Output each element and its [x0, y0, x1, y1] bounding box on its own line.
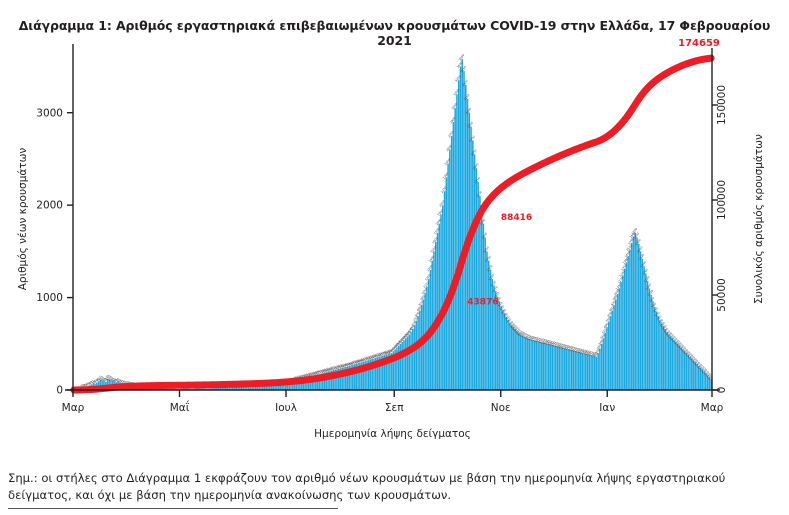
bar: [520, 335, 522, 390]
bar: [677, 344, 679, 390]
bar: [529, 339, 531, 390]
figure-note-text: Σημ.: οι στήλες στο Διάγραμμα 1 εκφράζου…: [8, 471, 725, 502]
x-tick-label: Ιουλ: [275, 402, 297, 414]
bar: [622, 275, 624, 390]
bar: [555, 346, 557, 390]
bar: [624, 269, 626, 390]
bar: [456, 94, 458, 390]
bar: [548, 344, 550, 390]
bar: [419, 311, 421, 390]
bar: [564, 348, 566, 390]
bar: [454, 108, 456, 390]
bar: [544, 343, 546, 390]
bar: [435, 242, 437, 390]
bar: [504, 313, 506, 390]
bar: [610, 316, 612, 390]
bar: [461, 59, 463, 390]
bar: [470, 127, 472, 390]
bar: [500, 306, 502, 390]
x-tick-label: Ιαν: [599, 402, 615, 414]
bar: [606, 327, 608, 390]
note-underline: [8, 508, 338, 509]
bar: [460, 66, 462, 390]
bar: [650, 295, 652, 390]
y-axis-right-label: Συνολικός αριθμός κρουσμάτων: [753, 134, 765, 304]
bar: [509, 323, 511, 390]
bar: [680, 347, 682, 390]
x-tick-label: Νοε: [491, 402, 511, 414]
x-axis: ΜαρΜαΐΙουλΣεπΝοεΙανΜαρ Ημερομηνία λήψης …: [62, 390, 724, 440]
bar: [580, 353, 582, 390]
bar: [612, 311, 614, 390]
bar: [643, 266, 645, 390]
y-axis-right: 050000100000150000 Συνολικός αριθμός κρο…: [712, 48, 765, 393]
bar: [578, 352, 580, 390]
bar: [647, 281, 649, 390]
bar: [604, 333, 606, 390]
bar: [532, 340, 534, 390]
bar: [666, 332, 668, 390]
bar: [587, 354, 589, 390]
chart-figure: 3128354552607168809511010396881201151059…: [0, 38, 789, 458]
bar: [525, 337, 527, 390]
bars-group: [73, 59, 712, 390]
bar: [613, 305, 615, 390]
bar: [615, 299, 617, 390]
y-axis-left: 0100020003000 Αριθμός νέων κρουσμάτων: [17, 44, 73, 397]
bar: [463, 71, 465, 390]
bar: [627, 256, 629, 390]
y-axis-left-label: Αριθμός νέων κρουσμάτων: [17, 148, 29, 291]
bar: [664, 329, 666, 390]
bar: [502, 310, 504, 390]
bar: [571, 350, 573, 390]
bar: [583, 353, 585, 390]
cumulative-annotation: 174659: [678, 38, 720, 49]
bar: [407, 336, 409, 390]
bar: [543, 343, 545, 390]
bar: [472, 140, 474, 390]
bar: [594, 356, 596, 390]
bar: [409, 335, 411, 390]
bar: [537, 341, 539, 390]
y2-tick-label: 150000: [716, 85, 728, 125]
bar: [521, 335, 523, 390]
bar: [499, 301, 501, 390]
y2-tick-label: 50000: [716, 278, 728, 311]
bar: [557, 347, 559, 390]
bar: [446, 177, 448, 390]
bar: [476, 168, 478, 390]
bar: [601, 344, 603, 390]
y2-tick-label: 100000: [716, 180, 728, 220]
bar: [569, 350, 571, 390]
bar: [527, 338, 529, 390]
bar: [633, 237, 635, 390]
bar: [629, 250, 631, 391]
bar: [592, 356, 594, 390]
bar: [453, 122, 455, 390]
bar: [410, 332, 412, 390]
bar: [447, 164, 449, 390]
bar: [546, 344, 548, 390]
bar: [534, 341, 536, 390]
bar: [518, 333, 520, 390]
bar: [400, 344, 402, 390]
bar: [560, 347, 562, 390]
bar: [414, 325, 416, 390]
bar: [599, 348, 601, 390]
bar: [417, 316, 419, 390]
cumulative-annotations-group: 1746598841643876: [467, 38, 720, 307]
bar: [620, 282, 622, 390]
bar: [603, 338, 605, 390]
bar: [661, 323, 663, 390]
bar-value-labels-group: 3128354552607168809511010396881201151059…: [79, 53, 713, 389]
x-axis-label: Ημερομηνία λήψης δείγματος: [314, 428, 471, 440]
bar: [412, 329, 414, 390]
x-tick-label: Μαρ: [701, 402, 724, 414]
bar: [596, 357, 598, 390]
bar: [553, 346, 555, 390]
bar: [634, 233, 636, 390]
bar: [442, 205, 444, 390]
cumulative-annotation: 43876: [467, 298, 498, 308]
bar: [590, 355, 592, 390]
bar: [401, 342, 403, 390]
bar: [684, 351, 686, 390]
bar: [530, 340, 532, 390]
bar: [439, 224, 441, 390]
bar: [573, 351, 575, 390]
bar: [686, 353, 688, 390]
bar: [539, 342, 541, 390]
bar: [458, 80, 460, 390]
y-tick-label: 3000: [36, 107, 63, 119]
bar: [451, 136, 453, 390]
y-tick-label: 0: [56, 385, 63, 397]
bar: [679, 346, 681, 390]
bar: [513, 327, 515, 390]
bar: [497, 297, 499, 390]
bar: [550, 345, 552, 390]
bar: [416, 321, 418, 390]
bar: [585, 354, 587, 390]
bar: [673, 340, 675, 390]
bar: [617, 294, 619, 390]
bar: [536, 341, 538, 390]
bar: [567, 349, 569, 390]
bar: [523, 336, 525, 390]
bar: [668, 335, 670, 390]
bar: [440, 214, 442, 390]
bar: [582, 353, 584, 390]
bar: [541, 342, 543, 390]
bar: [574, 351, 576, 390]
bar: [576, 352, 578, 390]
bar: [642, 259, 644, 390]
x-tick-label: Σεπ: [385, 402, 404, 414]
y-tick-label: 1000: [36, 292, 63, 304]
bar: [649, 288, 651, 390]
bar: [589, 355, 591, 390]
bar: [608, 322, 610, 390]
bar: [449, 150, 451, 390]
bar: [562, 348, 564, 390]
bar: [626, 262, 628, 390]
bar: [636, 237, 638, 390]
bar: [659, 320, 661, 390]
x-tick-label: Μαρ: [62, 402, 85, 414]
covid-cases-chart: 3128354552607168809511010396881201151059…: [0, 38, 789, 458]
cumulative-annotation: 88416: [501, 213, 532, 223]
bar: [405, 338, 407, 390]
bar: [421, 305, 423, 390]
bar: [551, 345, 553, 390]
bar: [672, 338, 674, 390]
y-tick-label: 2000: [36, 200, 63, 212]
x-tick-label: Μαΐ: [170, 400, 190, 414]
bar-value-label: 3580: [458, 53, 466, 61]
bar: [597, 353, 599, 390]
bar: [511, 325, 513, 390]
bar: [670, 336, 672, 390]
bar: [559, 347, 561, 390]
bar: [675, 342, 677, 390]
bar: [474, 154, 476, 390]
bar: [566, 349, 568, 390]
bar: [619, 288, 621, 390]
bar: [645, 274, 647, 390]
bar: [507, 320, 509, 390]
bar: [631, 243, 633, 390]
bar: [444, 191, 446, 390]
bar: [663, 326, 665, 390]
bar: [682, 349, 684, 390]
bar: [516, 331, 518, 390]
bar: [657, 316, 659, 390]
figure-note: Σημ.: οι στήλες στο Διάγραμμα 1 εκφράζου…: [8, 470, 783, 509]
bar: [403, 340, 405, 390]
bar: [514, 329, 516, 390]
bar: [437, 233, 439, 390]
bar: [506, 317, 508, 390]
